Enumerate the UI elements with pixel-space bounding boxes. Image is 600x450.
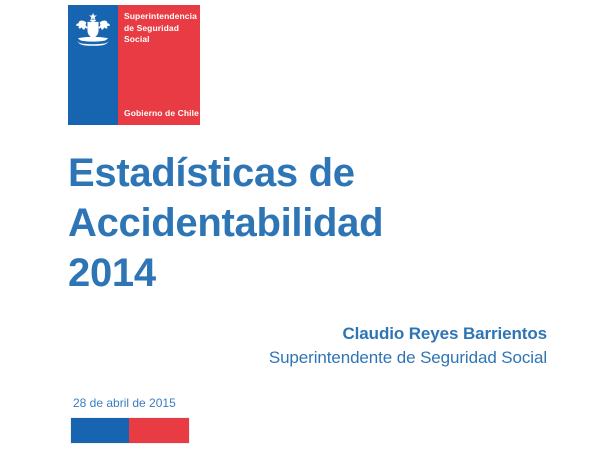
flag-bar-red-segment: [129, 418, 189, 443]
logo-organization-name: Superintendencia de Seguridad Social: [124, 11, 197, 46]
logo-organization-line-1: Superintendencia: [124, 11, 197, 21]
logo-government-label: Gobierno de Chile: [124, 108, 199, 118]
logo-emblem-panel: [68, 5, 118, 125]
page-title-line-2: Accidentabilidad: [68, 198, 448, 248]
page-title-line-1: Estadísticas de: [68, 148, 448, 198]
author-name: Claudio Reyes Barrientos: [269, 322, 547, 346]
author-block: Claudio Reyes Barrientos Superintendente…: [269, 322, 547, 370]
page-title: Estadísticas de Accidentabilidad 2014: [68, 148, 448, 298]
page-title-line-3: 2014: [68, 248, 448, 298]
logo-organization-line-2: de Seguridad: [124, 23, 179, 33]
presentation-date: 28 de abril de 2015: [73, 396, 176, 411]
chile-flag-bar-icon: [70, 417, 190, 444]
logo-organization-line-3: Social: [124, 34, 150, 44]
flag-bar-blue-segment: [71, 418, 129, 443]
chile-coat-of-arms-icon: [73, 12, 113, 46]
government-logo: Superintendencia de Seguridad Social Gob…: [68, 5, 200, 125]
logo-text-panel: Superintendencia de Seguridad Social Gob…: [118, 5, 200, 125]
author-role: Superintendente de Seguridad Social: [269, 346, 547, 370]
